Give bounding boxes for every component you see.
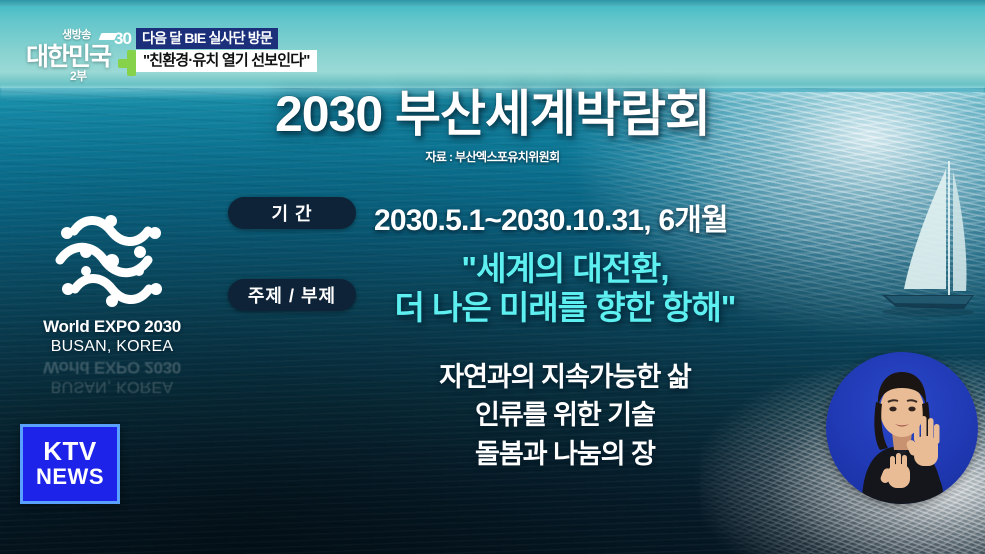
theme-value-line-1: "세계의 대전환,: [360, 250, 770, 289]
program-main-label: 대한민국: [26, 37, 110, 73]
sign-language-interpreter: [826, 352, 978, 504]
program-part-label: 2부: [70, 67, 87, 84]
station-logo: KTV NEWS: [20, 424, 120, 504]
broadcast-frame: 생방송 30 대한민국 2부 다음 달 BIE 실사단 방문 "친환경·유치 열…: [0, 0, 985, 554]
station-logo-line-1: KTV: [43, 438, 97, 464]
subtheme-list: 자연과의 지속가능한 삶 인류를 위한 기술 돌봄과 나눔의 장: [330, 358, 800, 473]
program-logo: 생방송 30 대한민국 2부: [26, 26, 138, 84]
expo-logo: World EXPO 2030 BUSAN, KOREA BUSAN, KORE…: [22, 205, 202, 375]
headline-line-2: "친환경·유치 열기 선보인다": [136, 50, 317, 72]
expo-logo-line-2: BUSAN, KOREA: [22, 338, 202, 356]
expo-logo-reflection-line-1: World EXPO 2030: [22, 357, 202, 377]
interpreter-figure-icon: [826, 352, 978, 504]
expo-logo-line-1: World EXPO 2030: [22, 317, 202, 337]
theme-label-pill: 주제 / 부제: [228, 279, 356, 311]
theme-value: "세계의 대전환, 더 나은 미래를 향한 항해": [360, 250, 770, 328]
expo-logo-text: World EXPO 2030 BUSAN, KOREA: [22, 317, 202, 356]
station-logo-line-2: NEWS: [36, 465, 104, 489]
period-label-pill: 기 간: [228, 197, 356, 229]
period-value: 2030.5.1~2030.10.31, 6개월: [374, 195, 728, 239]
source-credit: 자료 : 부산엑스포유치위원회: [0, 148, 985, 165]
subtheme-item: 돌봄과 나눔의 장: [330, 435, 800, 473]
sailboat-icon: [852, 155, 982, 330]
expo-wave-mark-icon: [44, 205, 179, 315]
program-channel-number: 30: [114, 29, 131, 49]
subtheme-item: 인류를 위한 기술: [330, 396, 800, 434]
page-title: 2030 부산세계박람회: [0, 88, 985, 141]
theme-value-line-2: 더 나은 미래를 향한 항해": [360, 289, 770, 328]
headline-line-1: 다음 달 BIE 실사단 방문: [136, 28, 278, 49]
subtheme-item: 자연과의 지속가능한 삶: [330, 358, 800, 396]
headline-block: 다음 달 BIE 실사단 방문 "친환경·유치 열기 선보인다": [136, 28, 336, 72]
